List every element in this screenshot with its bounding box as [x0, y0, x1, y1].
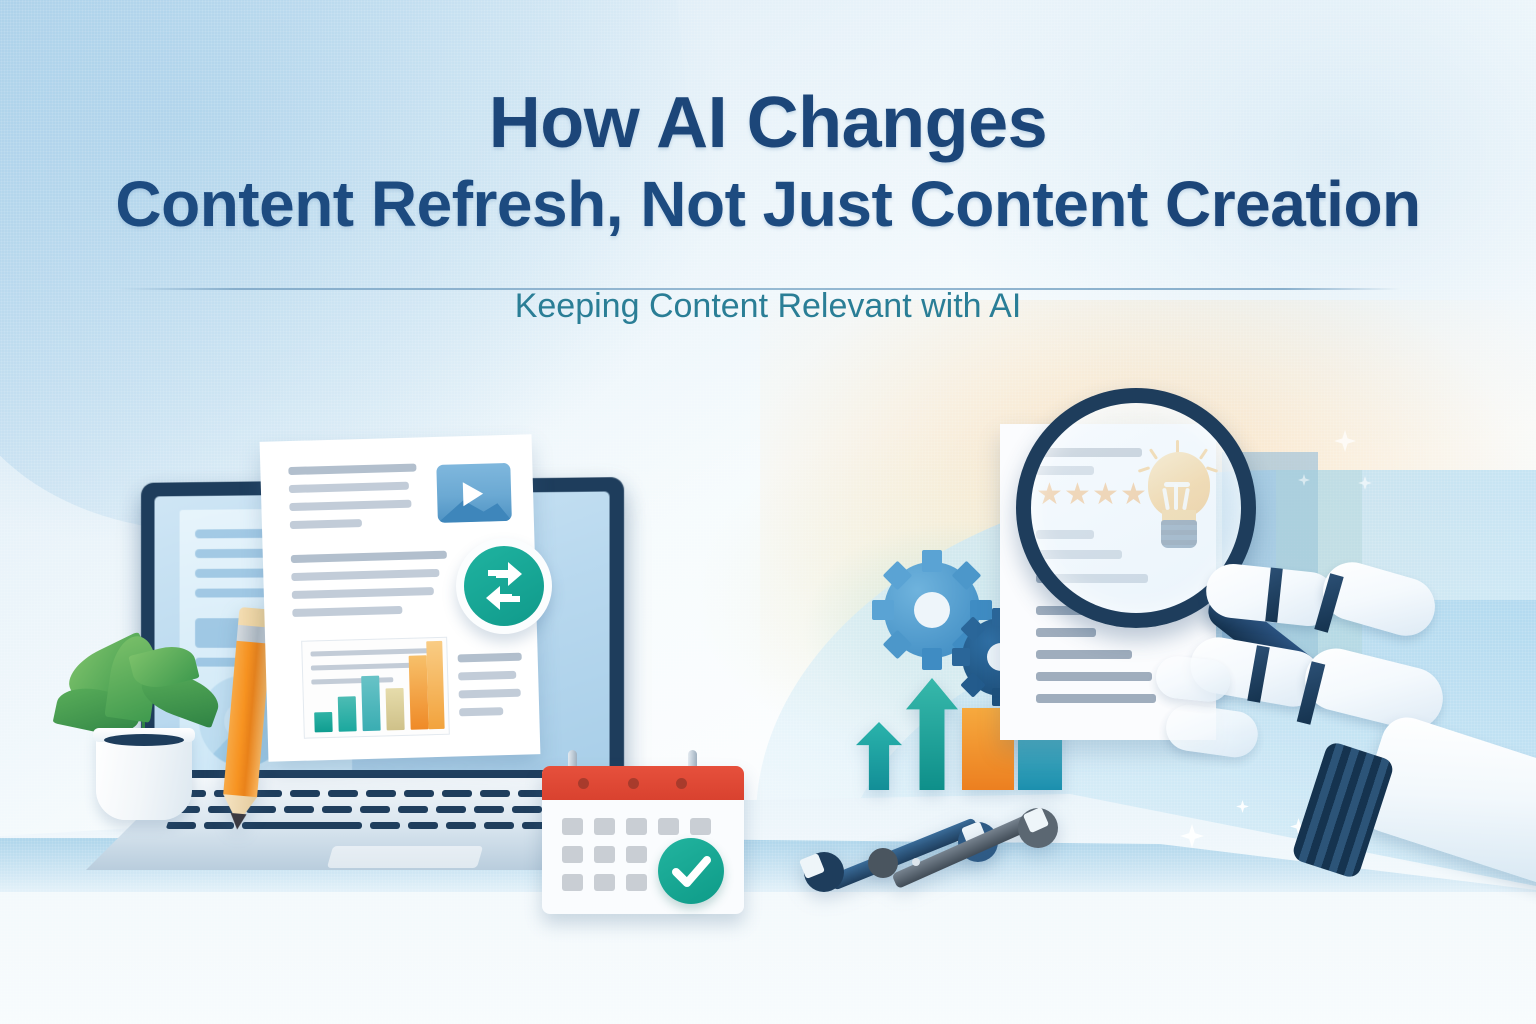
growth-arrow [906, 678, 958, 790]
growth-arrow [856, 722, 902, 790]
robot-wrist-cuff [1291, 740, 1396, 880]
calendar-body [542, 766, 744, 914]
robot-arm [1354, 711, 1536, 904]
laptop-trackpad [327, 846, 483, 868]
refresh-badge [456, 538, 552, 634]
page-title-emphasis: Creation [1165, 168, 1421, 240]
calendar-header [542, 766, 744, 800]
video-thumbnail [436, 463, 512, 523]
pencil-tip [229, 813, 246, 830]
refresh-icon [464, 546, 544, 626]
poster-header: How AI Changes Content Refresh, Not Just… [0, 0, 1536, 370]
page-subtitle: Keeping Content Relevant with AI [0, 240, 1536, 326]
robot-finger [1163, 702, 1261, 760]
play-icon [463, 482, 484, 507]
header-divider [120, 288, 1400, 290]
page-title-line-2-plain: Content Refresh, Not Just Content [115, 168, 1165, 240]
wrench-gray [862, 796, 1072, 900]
sparkle-icon [1334, 430, 1356, 452]
plant-pot [96, 728, 192, 820]
calendar-check-icon [658, 838, 724, 904]
page-title-line-2: Content Refresh, Not Just Content Creati… [0, 162, 1536, 240]
robot-hand [1196, 540, 1536, 940]
poster-canvas: How AI Changes Content Refresh, Not Just… [0, 0, 1536, 1024]
document-mini-chart [301, 637, 450, 739]
plant-soil [104, 734, 184, 746]
page-title-line-1: How AI Changes [0, 0, 1536, 162]
